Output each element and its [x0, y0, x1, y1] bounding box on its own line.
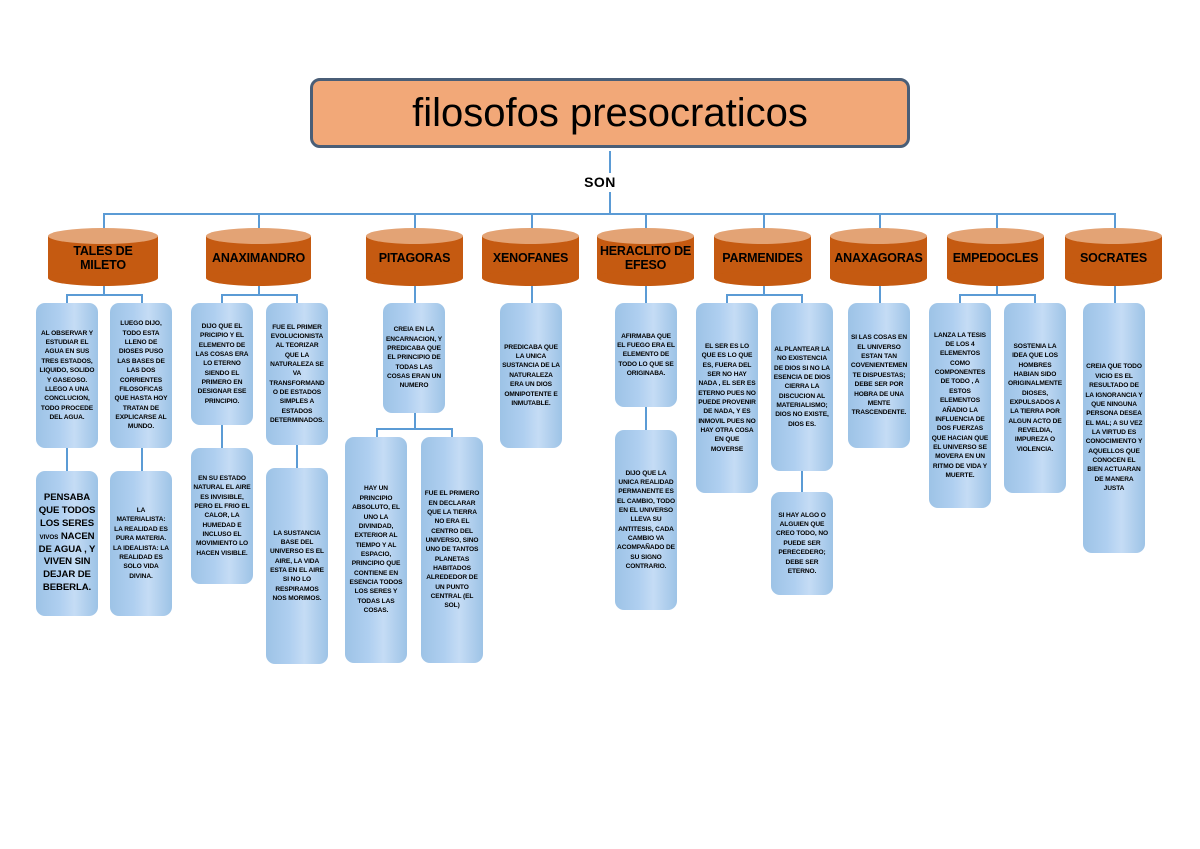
- node-label-anaximandro: ANAXIMANDRO: [206, 238, 311, 278]
- node-pitagoras[interactable]: PITAGORAS: [366, 228, 463, 286]
- node-parmenides[interactable]: PARMENIDES: [714, 228, 811, 286]
- detail-box-parmenides-3[interactable]: SI HAY ALGO O ALGUIEN QUE CREO TODO, NO …: [771, 492, 833, 595]
- connector-socrates-stem: [1114, 286, 1116, 303]
- connector-main-bus: [103, 213, 1115, 215]
- connector-pitagoras-down: [414, 413, 416, 429]
- detail-text: SI LAS COSAS EN EL UNIVERSO ESTAN TAN CO…: [848, 333, 910, 417]
- node-heraclito[interactable]: HERACLITO DE EFESO: [597, 228, 694, 286]
- connector-tales-right: [141, 294, 143, 303]
- node-label-socrates: SOCRATES: [1065, 238, 1162, 278]
- connector-parmenides-r-down: [801, 470, 803, 492]
- page-title: filosofos presocraticos: [412, 93, 808, 133]
- detail-box-empedocles-1[interactable]: LANZA LA TESIS DE LOS 4 ELEMENTOS COMO C…: [929, 303, 991, 508]
- connector-empedocles-right: [1034, 294, 1036, 303]
- detail-box-parmenides-1[interactable]: EL SER ES LO QUE ES LO QUE ES, FUERA DEL…: [696, 303, 758, 493]
- node-tales[interactable]: TALES DE MILETO: [48, 228, 158, 286]
- detail-text: SOSTENIA LA IDEA QUE LOS HOMBRES HABIAN …: [1004, 342, 1066, 454]
- detail-box-pitagoras-2[interactable]: HAY UN PRINCIPIO ABSOLUTO, EL UNO LA DIV…: [345, 437, 407, 663]
- node-label-parmenides: PARMENIDES: [714, 238, 811, 278]
- detail-text: FUE EL PRIMER EVOLUCIONISTA AL TEORIZAR …: [266, 323, 328, 426]
- detail-box-anaxagoras-1[interactable]: SI LAS COSAS EN EL UNIVERSO ESTAN TAN CO…: [848, 303, 910, 448]
- detail-text: EL SER ES LO QUE ES LO QUE ES, FUERA DEL…: [696, 342, 758, 454]
- connector-pitagoras-left: [376, 428, 378, 437]
- connector-pitagoras-stem: [414, 286, 416, 303]
- detail-text: AL OBSERVAR Y ESTUDIAR EL AGUA EN SUS TR…: [36, 329, 98, 423]
- connector-anaximandro-left: [221, 294, 223, 303]
- connector-tales-r-down: [141, 447, 143, 472]
- detail-text: LA MATERIALISTA: LA REALIDAD ES PURA MAT…: [110, 506, 172, 581]
- connector-heraclito-down: [645, 406, 647, 431]
- detail-box-heraclito-2[interactable]: DIJO QUE LA UNICA REALIDAD PERMANENTE ES…: [615, 430, 677, 610]
- detail-text: PENSABA QUE TODOS LOS SERES VIVOS NACEN …: [36, 492, 98, 596]
- connector-son-stem: [609, 192, 611, 214]
- detail-text: LUEGO DIJO, TODO ESTA LLENO DE DIOSES PU…: [110, 319, 172, 431]
- node-anaxagoras[interactable]: ANAXAGORAS: [830, 228, 927, 286]
- detail-box-tales-4[interactable]: LA MATERIALISTA: LA REALIDAD ES PURA MAT…: [110, 471, 172, 616]
- detail-box-pitagoras-3[interactable]: FUE EL PRIMERO EN DECLARAR QUE LA TIERRA…: [421, 437, 483, 663]
- detail-text: FUE EL PRIMERO EN DECLARAR QUE LA TIERRA…: [421, 489, 483, 611]
- connector-empedocles-bar: [959, 294, 1035, 296]
- connector-pitagoras-right: [451, 428, 453, 437]
- connector-heraclito-stem: [645, 286, 647, 303]
- detail-text: PREDICABA QUE LA UNICA SUSTANCIA DE LA N…: [500, 343, 562, 409]
- detail-box-parmenides-2[interactable]: AL PLANTEAR LA NO EXISTENCIA DE DIOS SI …: [771, 303, 833, 471]
- node-socrates[interactable]: SOCRATES: [1065, 228, 1162, 286]
- node-label-xenofanes: XENOFANES: [482, 238, 579, 278]
- detail-text: SI HAY ALGO O ALGUIEN QUE CREO TODO, NO …: [771, 511, 833, 577]
- connector-anaximandro-right: [296, 294, 298, 303]
- detail-text: LA SUSTANCIA BASE DEL UNIVERSO ES EL AIR…: [266, 529, 328, 604]
- connector-anaximandro-l-down: [221, 424, 223, 449]
- connector-pitagoras-bar: [376, 428, 452, 430]
- node-anaximandro[interactable]: ANAXIMANDRO: [206, 228, 311, 286]
- detail-text: DIJO QUE LA UNICA REALIDAD PERMANENTE ES…: [615, 469, 677, 572]
- node-empedocles[interactable]: EMPEDOCLES: [947, 228, 1044, 286]
- connector-anaximandro-bar: [221, 294, 297, 296]
- detail-box-tales-1[interactable]: AL OBSERVAR Y ESTUDIAR EL AGUA EN SUS TR…: [36, 303, 98, 448]
- relation-label: SON: [0, 174, 1200, 190]
- detail-box-tales-3[interactable]: PENSABA QUE TODOS LOS SERES VIVOS NACEN …: [36, 471, 98, 616]
- concept-map-canvas: filosofos presocraticos SON TALES DE MIL…: [0, 0, 1200, 849]
- node-label-pitagoras: PITAGORAS: [366, 238, 463, 278]
- detail-box-anaximandro-2[interactable]: FUE EL PRIMER EVOLUCIONISTA AL TEORIZAR …: [266, 303, 328, 445]
- connector-anaximandro-r-down: [296, 444, 298, 469]
- detail-text: AL PLANTEAR LA NO EXISTENCIA DE DIOS SI …: [771, 345, 833, 429]
- detail-text: LANZA LA TESIS DE LOS 4 ELEMENTOS COMO C…: [929, 331, 991, 481]
- node-label-heraclito: HERACLITO DE EFESO: [597, 238, 694, 278]
- connector-anaxagoras-stem: [879, 286, 881, 303]
- connector-parmenides-left: [726, 294, 728, 303]
- detail-box-empedocles-2[interactable]: SOSTENIA LA IDEA QUE LOS HOMBRES HABIAN …: [1004, 303, 1066, 493]
- node-label-tales: TALES DE MILETO: [48, 238, 158, 278]
- detail-box-xenofanes-1[interactable]: PREDICABA QUE LA UNICA SUSTANCIA DE LA N…: [500, 303, 562, 448]
- detail-text: CREIA EN LA ENCARNACION, Y PREDICABA QUE…: [383, 325, 445, 391]
- node-label-anaxagoras: ANAXAGORAS: [830, 238, 927, 278]
- connector-empedocles-left: [959, 294, 961, 303]
- detail-box-socrates-1[interactable]: CREIA QUE TODO VICIO ES EL RESULTADO DE …: [1083, 303, 1145, 553]
- detail-box-tales-2[interactable]: LUEGO DIJO, TODO ESTA LLENO DE DIOSES PU…: [110, 303, 172, 448]
- diagram-title-box: filosofos presocraticos: [310, 78, 910, 148]
- detail-box-anaximandro-4[interactable]: LA SUSTANCIA BASE DEL UNIVERSO ES EL AIR…: [266, 468, 328, 664]
- detail-text: DIJO QUE EL PRICIPIO Y EL ELEMENTO DE LA…: [191, 322, 253, 406]
- connector-tales-left: [66, 294, 68, 303]
- connector-parmenides-bar: [726, 294, 802, 296]
- detail-text: AFIRMABA QUE EL FUEGO ERA EL ELEMENTO DE…: [615, 332, 677, 379]
- detail-text: EN SU ESTADO NATURAL EL AIRE ES INVISIBL…: [191, 474, 253, 558]
- connector-xenofanes-stem: [531, 286, 533, 303]
- connector-tales-bar: [66, 294, 142, 296]
- detail-box-anaximandro-1[interactable]: DIJO QUE EL PRICIPIO Y EL ELEMENTO DE LA…: [191, 303, 253, 425]
- node-xenofanes[interactable]: XENOFANES: [482, 228, 579, 286]
- detail-box-anaximandro-3[interactable]: EN SU ESTADO NATURAL EL AIRE ES INVISIBL…: [191, 448, 253, 584]
- connector-parmenides-right: [801, 294, 803, 303]
- detail-box-pitagoras-1[interactable]: CREIA EN LA ENCARNACION, Y PREDICABA QUE…: [383, 303, 445, 413]
- detail-text: HAY UN PRINCIPIO ABSOLUTO, EL UNO LA DIV…: [345, 484, 407, 615]
- connector-tales-l-down: [66, 447, 68, 472]
- detail-box-heraclito-1[interactable]: AFIRMABA QUE EL FUEGO ERA EL ELEMENTO DE…: [615, 303, 677, 407]
- detail-text: CREIA QUE TODO VICIO ES EL RESULTADO DE …: [1083, 362, 1145, 493]
- connector-title-stem: [609, 151, 611, 173]
- node-label-empedocles: EMPEDOCLES: [947, 238, 1044, 278]
